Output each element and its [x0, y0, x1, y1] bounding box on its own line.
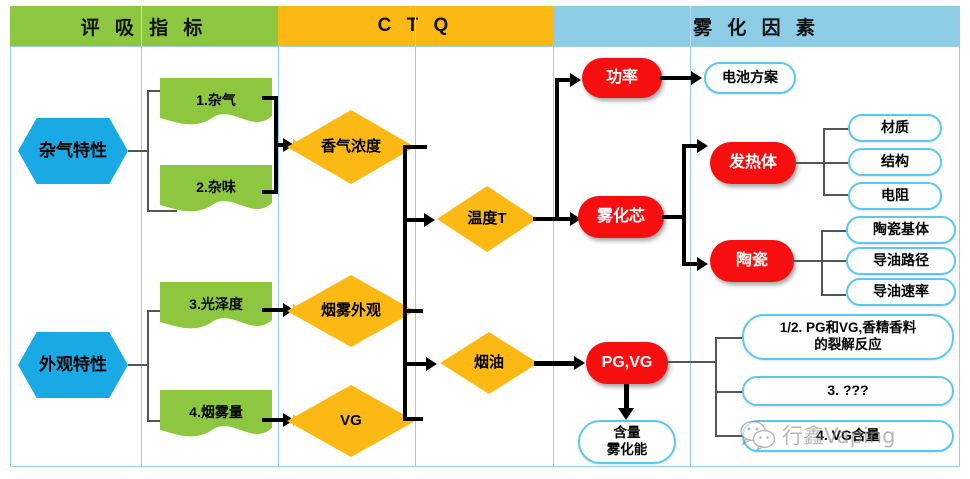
detail-label: 导油速率	[873, 284, 929, 300]
characteristic-appearance[interactable]: 外观特性	[18, 332, 128, 398]
metric-label: 2.杂味	[196, 180, 236, 196]
ctq-smoke-appearance[interactable]: 烟雾外观	[287, 275, 415, 347]
metric-odor-gas[interactable]: 1.杂气	[160, 78, 272, 134]
detail-battery-solution[interactable]: 电池方案	[704, 62, 796, 94]
connector-bracket	[715, 337, 717, 437]
connector	[794, 162, 824, 164]
grid-divider	[10, 46, 11, 467]
arrow-icon	[574, 356, 585, 370]
metric-label: 3.光泽度	[189, 297, 243, 313]
detail-label: 结构	[881, 154, 909, 170]
detail-label: 导油路径	[873, 253, 929, 269]
detail-pyrolysis-reaction[interactable]: 1/2. PG和VG,香精香料 的裂解反应	[742, 314, 954, 360]
connector-bracket	[147, 310, 149, 422]
factor-pg-vg[interactable]: PG,VG	[586, 342, 668, 384]
arrow-icon	[697, 139, 708, 153]
metric-smoke-volume[interactable]: 4.烟雾量	[160, 390, 272, 446]
grid-divider	[959, 46, 960, 467]
header-label: 评 吸 指 标	[81, 13, 208, 40]
ctq-label: VG	[340, 413, 362, 430]
connector	[262, 190, 278, 194]
grid-divider	[690, 46, 691, 467]
metric-glossiness[interactable]: 3.光泽度	[160, 282, 272, 338]
connector	[821, 294, 846, 296]
detail-unknown[interactable]: 3. ???	[742, 376, 954, 406]
detail-material[interactable]: 材质	[848, 114, 942, 142]
factor-label: 发热体	[729, 154, 777, 172]
arrow-icon	[426, 357, 437, 371]
detail-label: 4. VG含量	[816, 428, 880, 444]
metric-label: 4.烟雾量	[189, 405, 243, 421]
metric-label: 1.杂气	[196, 93, 236, 109]
connector	[823, 162, 848, 164]
factor-label: 雾化芯	[597, 208, 645, 226]
connector	[715, 435, 743, 437]
connector	[128, 150, 148, 152]
detail-oil-path[interactable]: 导油路径	[846, 247, 956, 275]
connector	[715, 391, 743, 393]
metric-odor-taste[interactable]: 2.杂味	[160, 165, 272, 221]
header-seam	[690, 6, 691, 46]
arrow-icon	[618, 408, 634, 420]
connector	[821, 230, 846, 232]
connector-bracket	[821, 230, 823, 296]
characteristic-label: 外观特性	[39, 355, 107, 374]
factor-label: 功率	[606, 69, 638, 87]
connector	[128, 364, 148, 366]
detail-resistance[interactable]: 电阻	[848, 182, 942, 210]
outcome-line-1: 含量	[614, 425, 641, 442]
factor-power[interactable]: 功率	[582, 58, 662, 98]
arrow-icon	[424, 213, 435, 227]
connector	[821, 260, 846, 262]
connector-bracket	[555, 78, 559, 221]
arrow-icon	[691, 71, 702, 85]
detail-vg-content[interactable]: 4. VG含量	[742, 420, 954, 452]
ctq-label: 烟油	[474, 355, 504, 372]
connector	[792, 260, 822, 262]
detail-label: 电阻	[881, 188, 909, 204]
connector-bracket	[682, 144, 686, 266]
grid-bottom-border	[10, 466, 960, 467]
grid-top-border	[10, 46, 960, 47]
connector-bracket	[403, 145, 407, 313]
ctq-label: 温度T	[467, 211, 506, 228]
grid-divider	[415, 46, 416, 467]
detail-oil-rate[interactable]: 导油速率	[846, 278, 956, 306]
detail-label: 3. ???	[827, 383, 868, 399]
flowchart-canvas: 评 吸 指 标 C T Q 雾 化 因 素 杂气特性 1.杂气 2.杂味 香气浓…	[0, 0, 970, 479]
ctq-fragrance-concentration[interactable]: 香气浓度	[287, 110, 415, 184]
factor-label: 陶瓷	[736, 252, 768, 270]
header-label: 雾 化 因 素	[693, 13, 820, 40]
connector	[147, 210, 177, 212]
header-seam	[141, 6, 142, 46]
connector	[823, 194, 848, 196]
connector	[823, 128, 848, 130]
connector	[666, 361, 716, 363]
connector	[715, 337, 743, 339]
characteristic-odor[interactable]: 杂气特性	[18, 118, 128, 184]
header-seam	[415, 6, 416, 46]
factor-atomizer-core[interactable]: 雾化芯	[578, 196, 664, 238]
detail-label: 电池方案	[722, 70, 778, 86]
grid-divider	[278, 46, 279, 467]
detail-ceramic-substrate[interactable]: 陶瓷基体	[846, 216, 956, 244]
factor-label: PG,VG	[602, 354, 653, 372]
arrow-icon	[697, 257, 708, 271]
ctq-e-liquid[interactable]: 烟油	[440, 332, 538, 394]
grid-divider	[553, 46, 554, 467]
detail-label-line-1: 1/2. PG和VG,香精香料	[780, 320, 917, 337]
grid-divider	[141, 46, 142, 467]
ctq-label: 香气浓度	[321, 139, 381, 156]
header-atomization-factors: 雾 化 因 素	[553, 6, 960, 46]
connector	[407, 145, 427, 149]
outcome-atomization-capacity[interactable]: 含量 雾化能	[578, 420, 676, 464]
factor-ceramic[interactable]: 陶瓷	[710, 240, 794, 282]
detail-label-line-2: 的裂解反应	[814, 337, 882, 354]
factor-heating-element[interactable]: 发热体	[710, 142, 796, 184]
detail-label: 材质	[881, 120, 909, 136]
arrow-icon	[570, 73, 581, 87]
characteristic-label: 杂气特性	[39, 141, 107, 160]
outcome-line-2: 雾化能	[607, 442, 648, 459]
connector	[534, 361, 576, 366]
ctq-temperature[interactable]: 温度T	[437, 186, 537, 252]
connector-bracket	[147, 90, 149, 212]
ctq-label: 烟雾外观	[321, 303, 381, 320]
connector	[660, 76, 694, 80]
detail-label: 陶瓷基体	[873, 222, 929, 238]
header-assessment-metrics: 评 吸 指 标	[10, 6, 278, 46]
ctq-vg[interactable]: VG	[287, 385, 415, 457]
detail-structure[interactable]: 结构	[848, 148, 942, 176]
